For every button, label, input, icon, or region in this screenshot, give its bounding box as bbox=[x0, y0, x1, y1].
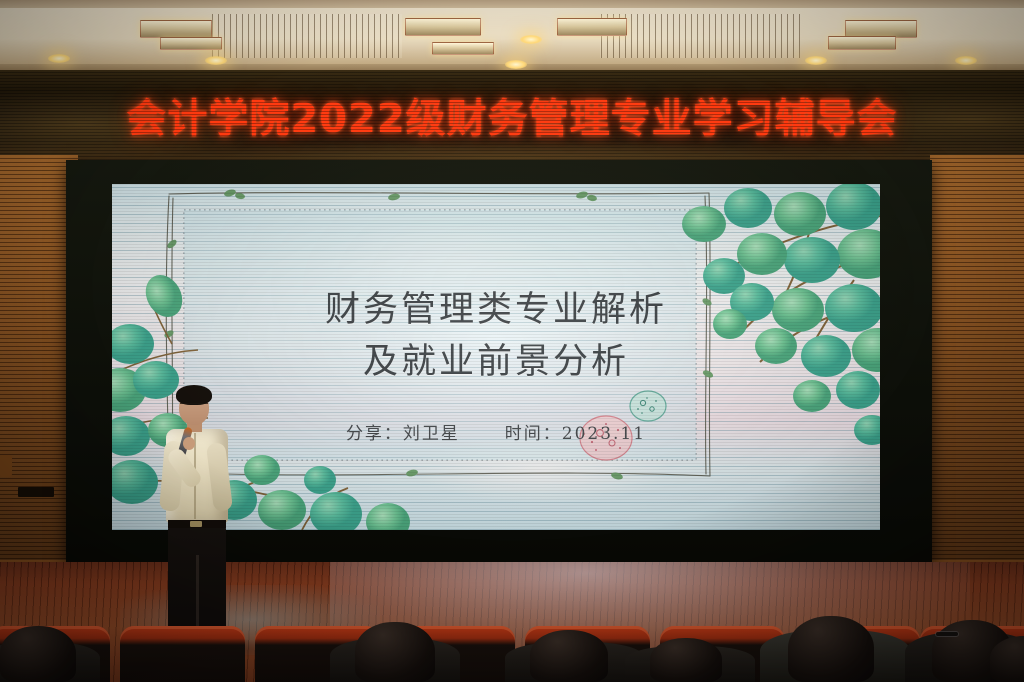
audience-head bbox=[788, 616, 874, 682]
ceiling bbox=[0, 0, 1024, 72]
audience-row bbox=[0, 600, 1024, 682]
led-banner: 会计学院2022级财务管理专业学习辅导会 bbox=[0, 70, 1024, 160]
ceiling-downlight bbox=[955, 56, 977, 65]
ceiling-light-panel bbox=[405, 18, 481, 36]
ceiling-slat-group-left bbox=[212, 14, 402, 58]
led-banner-text: 会计学院2022级财务管理专业学习辅导会 bbox=[126, 86, 897, 144]
ceiling-light-panel bbox=[432, 42, 494, 55]
wall-shading bbox=[930, 155, 1024, 575]
led-banner-band: 会计学院2022级财务管理专业学习辅导会 bbox=[0, 70, 1024, 160]
wall-vent bbox=[18, 487, 54, 497]
glasses-icon bbox=[180, 403, 208, 408]
ceiling-downlight bbox=[520, 35, 542, 44]
speaker-belt-buckle bbox=[190, 521, 202, 527]
wall-fixture bbox=[0, 455, 12, 477]
ceiling-light-panel bbox=[140, 20, 212, 38]
ceiling-light-panel bbox=[160, 37, 222, 50]
chair bbox=[120, 626, 245, 682]
ceiling-downlight bbox=[505, 60, 527, 69]
ceiling-downlight bbox=[48, 54, 70, 63]
glasses-icon bbox=[936, 632, 958, 636]
ceiling-downlight bbox=[205, 56, 227, 65]
speaker-hair bbox=[176, 385, 212, 405]
speckled-circle-teal bbox=[630, 391, 666, 421]
slide-presenter: 分享：刘卫星 bbox=[346, 424, 460, 444]
ceiling-light-panel bbox=[557, 18, 627, 36]
ceiling-downlight bbox=[805, 56, 827, 65]
slide-title-line1: 财务管理类专业解析 bbox=[112, 284, 880, 336]
speaker-hand bbox=[183, 437, 195, 450]
wall-right bbox=[930, 155, 1024, 575]
slide-title-line2: 及就业前景分析 bbox=[112, 336, 880, 388]
ceiling-light-panel bbox=[828, 36, 896, 50]
audience-head bbox=[355, 622, 435, 682]
audience-head bbox=[650, 638, 722, 682]
lecture-hall-photo: 会计学院2022级财务管理专业学习辅导会 bbox=[0, 0, 1024, 682]
slide-date: 时间：2023.11 bbox=[505, 424, 646, 444]
slide-title: 财务管理类专业解析 及就业前景分析 bbox=[112, 284, 880, 388]
audience-head bbox=[530, 630, 608, 682]
ceiling-slat-group-right bbox=[600, 14, 800, 58]
audience-head bbox=[0, 626, 76, 682]
